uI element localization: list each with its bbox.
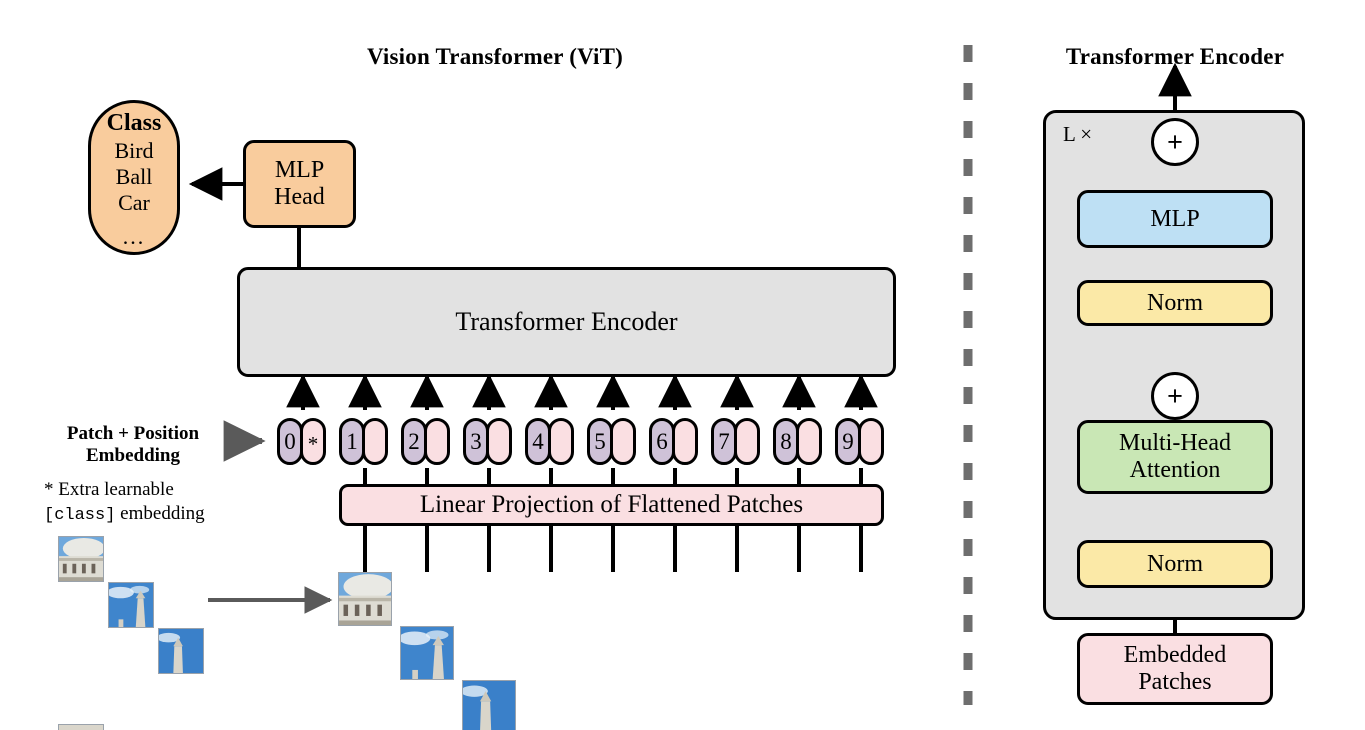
residual-add-top: + xyxy=(1151,118,1199,166)
mlp-head-line2: Head xyxy=(274,184,325,211)
add-symbol-top: + xyxy=(1167,129,1183,156)
token-1-position: 1 xyxy=(339,418,365,465)
flat-patch-2 xyxy=(400,626,454,680)
multi-head-attention-block: Multi-Head Attention xyxy=(1077,420,1273,494)
token-0-patch: * xyxy=(300,418,326,465)
embedding-word: embedding xyxy=(115,503,204,524)
source-patch-0-1 xyxy=(108,582,154,628)
norm-bottom-label: Norm xyxy=(1147,551,1203,578)
patch-position-embedding-label: Patch + Position Embedding xyxy=(42,423,224,466)
class-heading: Class xyxy=(107,109,162,137)
transformer-encoder-box: Transformer Encoder xyxy=(237,267,896,377)
token-1: 1 xyxy=(339,418,391,465)
token-0: 0 * xyxy=(277,418,329,465)
token-8-position: 8 xyxy=(773,418,799,465)
token-2: 2 xyxy=(401,418,453,465)
add-symbol-bottom: + xyxy=(1167,383,1183,410)
norm-block-top: Norm xyxy=(1077,280,1273,326)
class-item-ball: Ball xyxy=(116,164,153,190)
attention-line1: Multi-Head xyxy=(1119,430,1231,457)
token-0-star: * xyxy=(308,434,319,455)
token-3-position: 3 xyxy=(463,418,489,465)
token-4-position: 4 xyxy=(525,418,551,465)
token-1-patch xyxy=(362,418,388,465)
class-item-bird: Bird xyxy=(114,138,153,164)
extra-learnable-line1: * Extra learnable xyxy=(44,478,205,502)
token-7-patch xyxy=(734,418,760,465)
extra-learnable-line2: [class] embedding xyxy=(44,502,205,526)
figure-canvas: Vision Transformer (ViT) Class Bird Ball… xyxy=(0,0,1365,730)
source-patch-0-0 xyxy=(58,536,104,582)
class-ellipsis: ... xyxy=(123,224,146,250)
token-5: 5 xyxy=(587,418,639,465)
norm-block-bottom: Norm xyxy=(1077,540,1273,588)
linear-projection-label: Linear Projection of Flattened Patches xyxy=(420,491,803,519)
class-output-box: Class Bird Ball Car ... xyxy=(88,100,180,255)
token-3-patch xyxy=(486,418,512,465)
embedded-patches-block: Embedded Patches xyxy=(1077,633,1273,705)
token-7-position: 7 xyxy=(711,418,737,465)
token-9: 9 xyxy=(835,418,887,465)
token-6-patch xyxy=(672,418,698,465)
source-patch-0-2 xyxy=(158,628,204,674)
token-9-position: 9 xyxy=(835,418,861,465)
token-2-patch xyxy=(424,418,450,465)
repeat-count-label: L × xyxy=(1063,122,1092,147)
attention-line2: Attention xyxy=(1119,457,1231,484)
token-0-position: 0 xyxy=(277,418,303,465)
token-4: 4 xyxy=(525,418,577,465)
linear-projection-box: Linear Projection of Flattened Patches xyxy=(339,484,884,526)
token-7: 7 xyxy=(711,418,763,465)
mlp-head-box: MLP Head xyxy=(243,140,356,228)
source-patch-1-0 xyxy=(58,724,104,730)
residual-add-bottom: + xyxy=(1151,372,1199,420)
norm-top-label: Norm xyxy=(1147,290,1203,317)
token-3: 3 xyxy=(463,418,515,465)
right-panel-title: Transformer Encoder xyxy=(1010,44,1340,70)
embedded-patches-line1: Embedded xyxy=(1124,642,1227,669)
transformer-encoder-label: Transformer Encoder xyxy=(455,307,677,336)
token-4-patch xyxy=(548,418,574,465)
token-6-position: 6 xyxy=(649,418,675,465)
token-8: 8 xyxy=(773,418,825,465)
patch-position-line1: Patch + Position xyxy=(42,423,224,445)
flat-patch-1 xyxy=(338,572,392,626)
token-5-patch xyxy=(610,418,636,465)
extra-learnable-note: * Extra learnable [class] embedding xyxy=(44,478,205,526)
token-8-patch xyxy=(796,418,822,465)
class-item-car: Car xyxy=(118,190,150,216)
mlp-head-line1: MLP xyxy=(274,157,325,184)
flat-patch-3 xyxy=(462,680,516,730)
mlp-label: MLP xyxy=(1150,206,1199,233)
embedded-patches-line2: Patches xyxy=(1124,669,1227,696)
class-token-code: [class] xyxy=(44,506,115,525)
token-9-patch xyxy=(858,418,884,465)
source-image-grid xyxy=(58,536,204,682)
mlp-block: MLP xyxy=(1077,190,1273,248)
token-6: 6 xyxy=(649,418,701,465)
token-2-position: 2 xyxy=(401,418,427,465)
left-panel-title: Vision Transformer (ViT) xyxy=(285,44,705,70)
token-5-position: 5 xyxy=(587,418,613,465)
patch-position-line2: Embedding xyxy=(42,445,224,467)
